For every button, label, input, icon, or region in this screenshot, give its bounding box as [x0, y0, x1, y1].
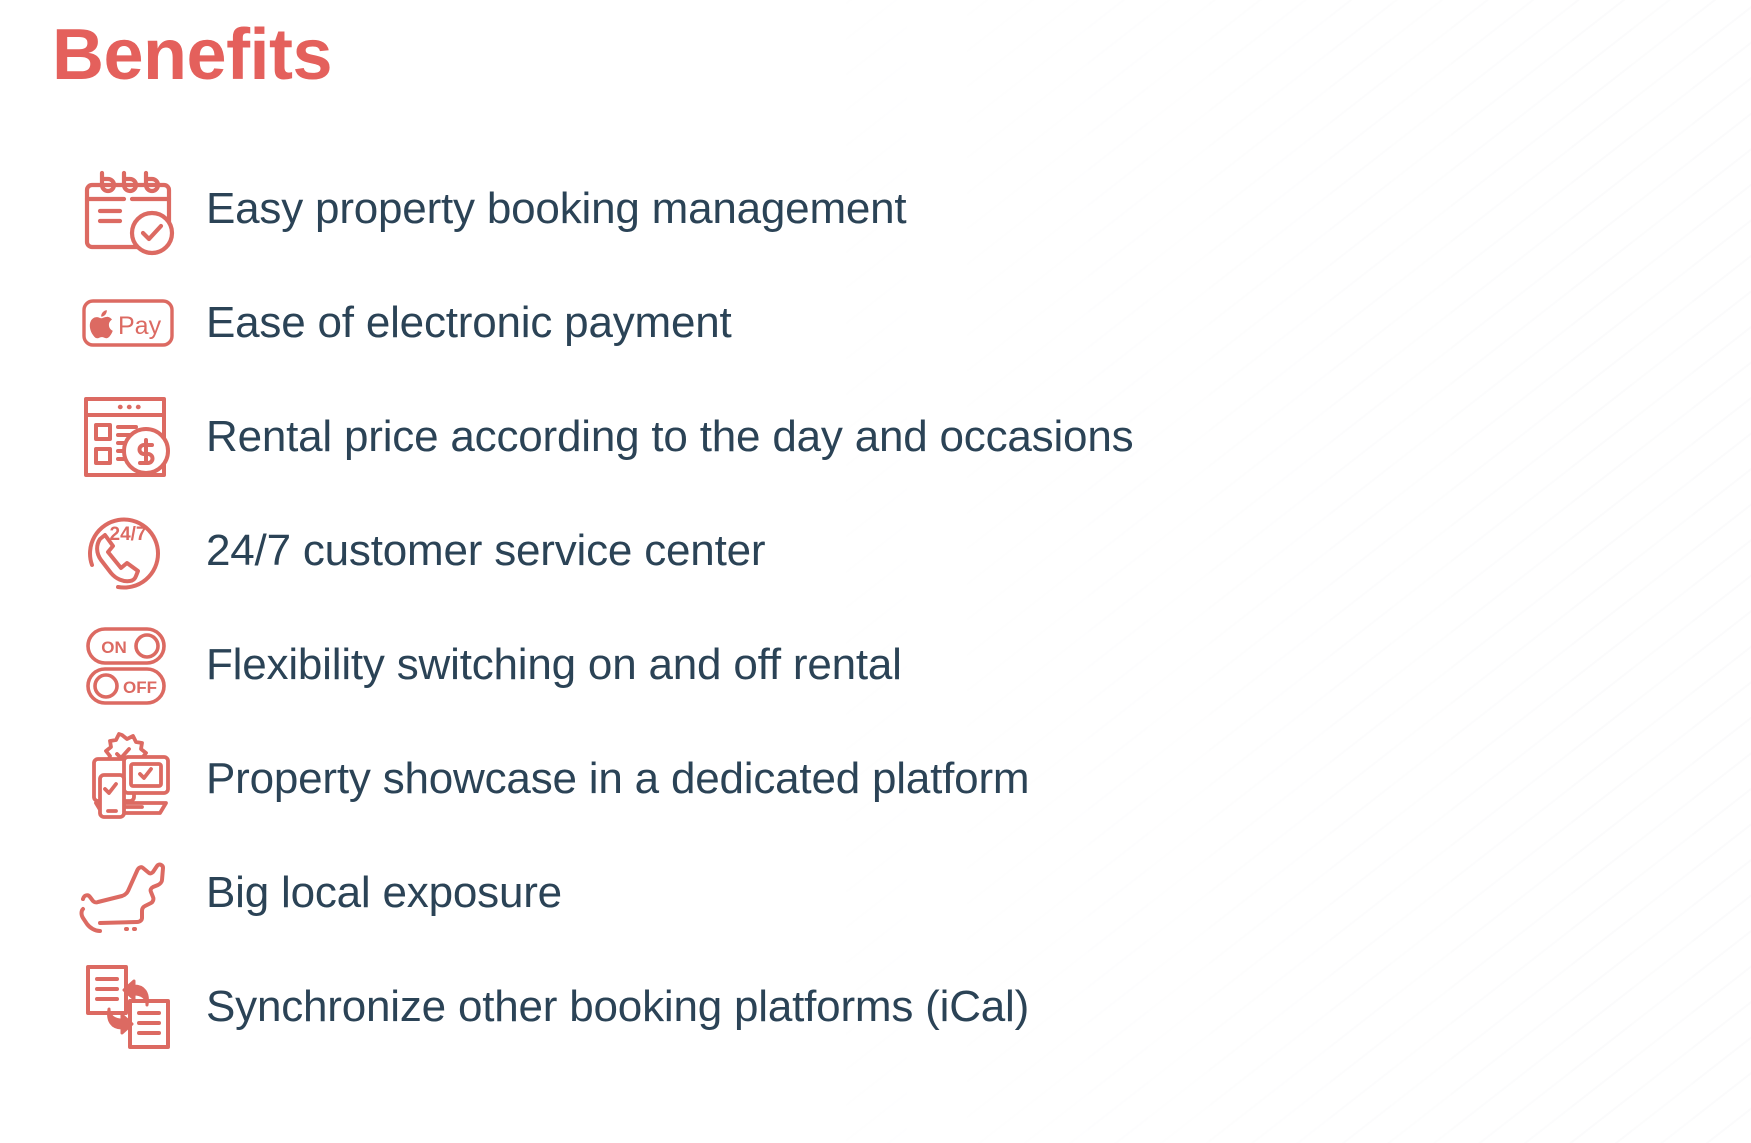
phone-24-7-label: 24/7: [110, 524, 147, 545]
toggle-on-label: ON: [101, 638, 127, 657]
list-item: ON OFF Flexibility switching on and off …: [0, 608, 1751, 722]
apple-pay-label: Pay: [118, 312, 162, 340]
multi-device-showcase-icon: [78, 729, 182, 829]
price-tag-dollar-icon: [78, 387, 182, 487]
list-item-label: Synchronize other booking platforms (iCa…: [206, 985, 1029, 1029]
list-item: Rental price according to the day and oc…: [0, 380, 1751, 494]
list-item: Synchronize other booking platforms (iCa…: [0, 950, 1751, 1064]
on-off-toggle-icon: ON OFF: [78, 615, 182, 715]
list-item-label: 24/7 customer service center: [206, 529, 765, 573]
uae-map-icon: [78, 843, 182, 943]
list-item-label: Ease of electronic payment: [206, 301, 732, 345]
benefits-list: Easy property booking management Pay Eas…: [0, 152, 1751, 1064]
list-item-label: Big local exposure: [206, 871, 562, 915]
page-title: Benefits: [52, 18, 332, 94]
list-item-label: Property showcase in a dedicated platfor…: [206, 757, 1029, 801]
list-item: Big local exposure: [0, 836, 1751, 950]
list-item-label: Easy property booking management: [206, 187, 906, 231]
list-item-label: Flexibility switching on and off rental: [206, 643, 902, 687]
list-item: Pay Ease of electronic payment: [0, 266, 1751, 380]
list-item: 24/7 24/7 customer service center: [0, 494, 1751, 608]
phone-24-7-icon: 24/7: [78, 501, 182, 601]
apple-pay-icon: Pay: [78, 273, 182, 373]
calendar-check-icon: [78, 159, 182, 259]
list-item: Easy property booking management: [0, 152, 1751, 266]
benefits-page: Benefits Easy property booking manage: [0, 0, 1751, 1143]
toggle-off-label: OFF: [123, 678, 157, 697]
list-item: Property showcase in a dedicated platfor…: [0, 722, 1751, 836]
sync-documents-icon: [78, 957, 182, 1057]
list-item-label: Rental price according to the day and oc…: [206, 415, 1133, 459]
